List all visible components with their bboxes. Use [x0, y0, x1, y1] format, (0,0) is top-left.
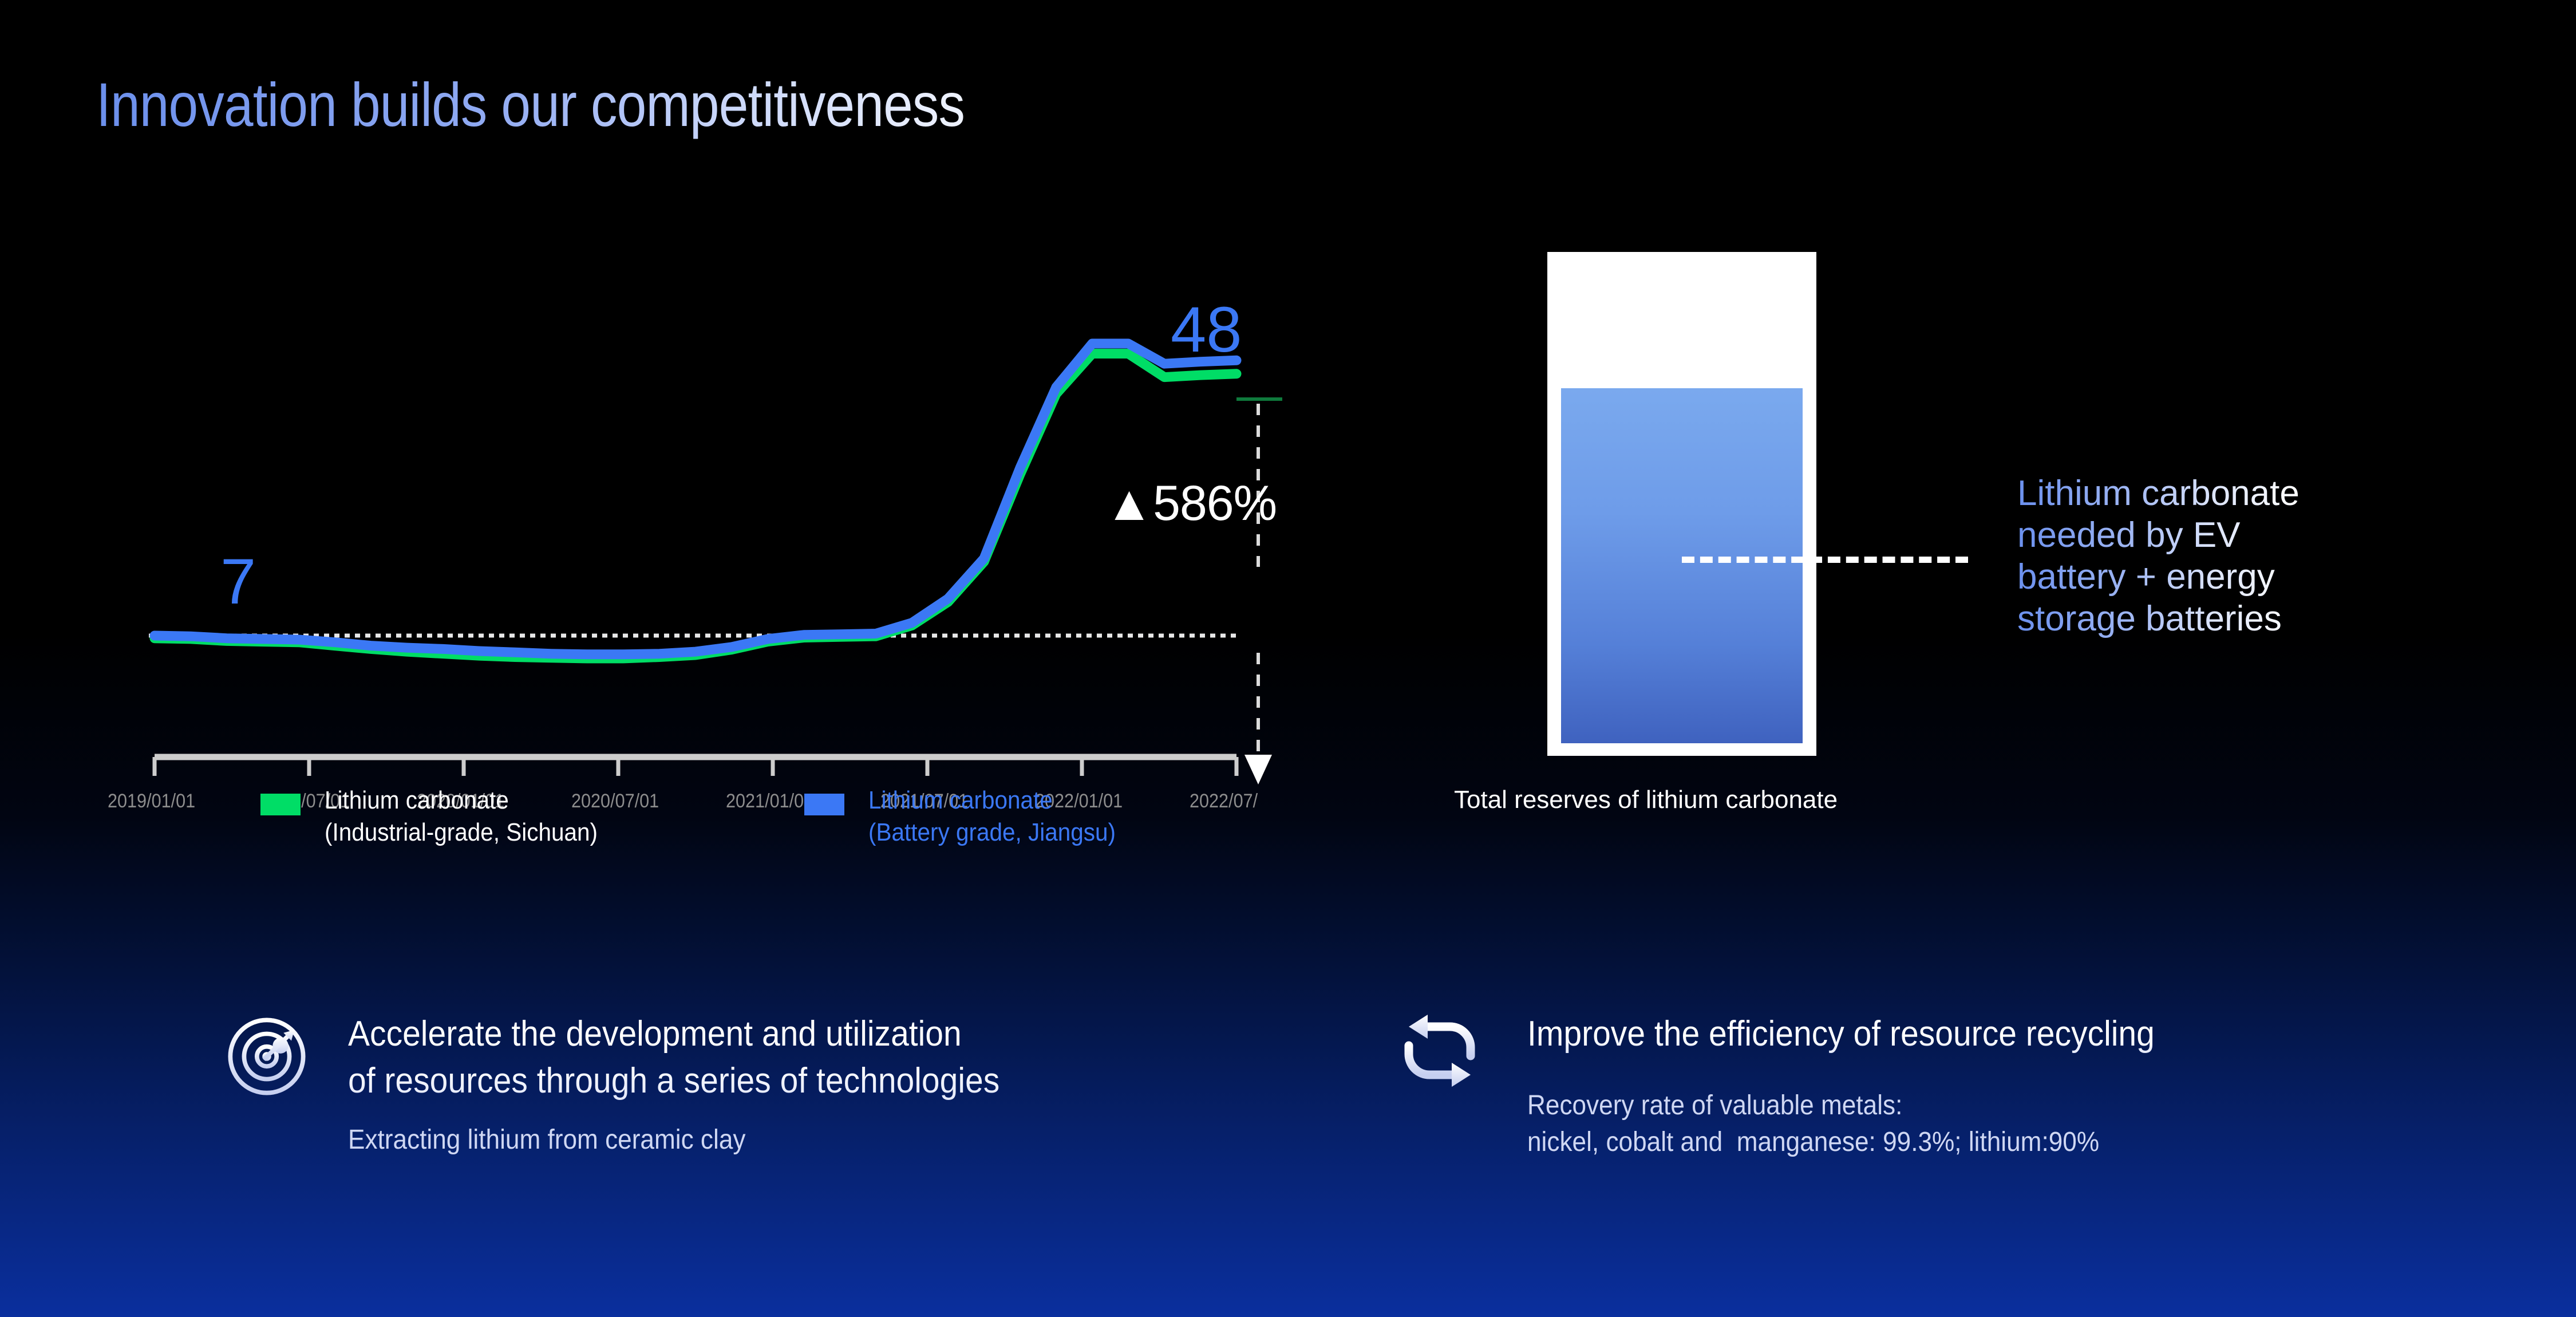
- feature-subtext: Recovery rate of valuable metals: nickel…: [1527, 1087, 2155, 1161]
- feature-block-recycling: Improve the efficiency of resource recyc…: [1397, 1005, 2209, 1161]
- chart-legend: Lithium carbonate (Industrial-grade, Sic…: [260, 784, 1137, 849]
- feature-heading: Improve the efficiency of resource recyc…: [1527, 1011, 2155, 1058]
- chart-change-label: ▲586%: [1105, 475, 1277, 532]
- series-line-industrial: [155, 354, 1236, 658]
- legend-item-label: Lithium carbonate (Industrial-grade, Sic…: [325, 784, 598, 849]
- legend-item-label: Lithium carbonate (Battery grade, Jiangs…: [868, 784, 1116, 849]
- feature-heading: Accelerate the development and utilizati…: [348, 1011, 999, 1105]
- chart-end-value-label: 48: [1171, 298, 1242, 362]
- feature-text-block: Accelerate the development and utilizati…: [348, 1005, 1056, 1158]
- series-line-battery: [155, 344, 1236, 654]
- reserves-connector-dashed-line: [1682, 557, 1968, 563]
- measure-arrowhead: [1244, 755, 1272, 784]
- feature-subtext: Extracting lithium from ceramic clay: [348, 1122, 999, 1158]
- legend-swatch-icon: [804, 794, 844, 815]
- radar-target-icon: [218, 1005, 316, 1108]
- legend-swatch-icon: [260, 794, 301, 815]
- page-title: Innovation builds our competitiveness: [96, 69, 965, 140]
- feature-text-block: Improve the efficiency of resource recyc…: [1527, 1005, 2209, 1161]
- reserves-caption: Total reserves of lithium carbonate: [1454, 786, 1838, 814]
- x-axis-tick-label: 2022/07/: [1190, 790, 1258, 813]
- x-axis-tick-label: 2019/01/01: [108, 790, 195, 813]
- slide-root: Innovation builds our competitiveness 20…: [0, 0, 2576, 1317]
- chart-start-value-label: 7: [220, 550, 256, 614]
- reserves-bar-container: [1547, 252, 1816, 756]
- legend-item-industrial[interactable]: Lithium carbonate (Industrial-grade, Sic…: [260, 784, 621, 849]
- legend-item-battery[interactable]: Lithium carbonate (Battery grade, Jiangs…: [804, 784, 1137, 849]
- reserves-bar-fill: [1561, 388, 1803, 743]
- reserves-demand-note: Lithium carbonate needed by EV battery +…: [2017, 472, 2300, 640]
- feature-block-development: Accelerate the development and utilizati…: [218, 1005, 1056, 1158]
- recycle-loop-icon: [1397, 1005, 1495, 1108]
